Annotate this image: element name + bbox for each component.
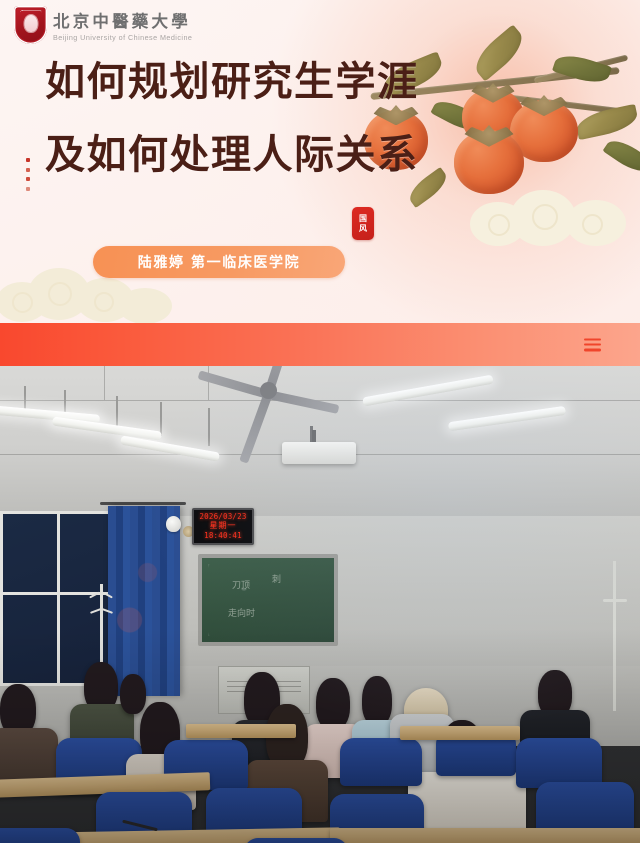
led-clock-sign: 2026/03/23 星期一 18:40:41 bbox=[192, 508, 254, 545]
green-chalkboard bbox=[198, 554, 338, 646]
speaker-badge: 陆雅婷 第一临床医学院 bbox=[93, 246, 345, 278]
chalk-writing: 刀顶 bbox=[232, 578, 250, 591]
red-seal-stamp: 国 风 bbox=[352, 207, 374, 240]
desk bbox=[400, 726, 520, 740]
audience-head bbox=[316, 678, 350, 730]
hamburger-menu-icon[interactable] bbox=[584, 338, 601, 351]
ceiling-fan-icon bbox=[195, 368, 340, 412]
orange-toolbar bbox=[0, 323, 640, 366]
university-name-en: Beijing University of Chinese Medicine bbox=[53, 33, 192, 42]
ceiling-projector bbox=[282, 442, 356, 464]
desk bbox=[186, 724, 296, 738]
classroom-photo: 2026/03/23 星期一 18:40:41 刀顶 刺 走向时 一、寻找导师并… bbox=[0, 366, 640, 843]
audience-head bbox=[120, 674, 146, 714]
seal-char-2: 风 bbox=[359, 224, 367, 233]
title-line-2: 及如何处理人际关系 bbox=[0, 135, 640, 175]
chalk-writing: 走向时 bbox=[228, 606, 255, 619]
poster-title: 如何规划研究生学涯 及如何处理人际关系 bbox=[0, 62, 640, 175]
chair bbox=[516, 738, 602, 788]
chair bbox=[244, 838, 348, 843]
red-dot-accent bbox=[26, 158, 30, 191]
desk bbox=[330, 828, 640, 843]
university-name-cn: 北京中醫藥大學 bbox=[53, 8, 192, 32]
audience-head bbox=[362, 676, 392, 726]
security-camera bbox=[166, 516, 181, 532]
chair bbox=[0, 828, 80, 843]
poster-banner: 北京中醫藥大學 Beijing University of Chinese Me… bbox=[0, 0, 640, 323]
audience-area bbox=[0, 642, 640, 843]
university-crest-icon bbox=[14, 6, 47, 44]
seal-char-1: 国 bbox=[359, 214, 367, 223]
led-time: 18:40:41 bbox=[204, 532, 242, 541]
university-brand: 北京中醫藥大學 Beijing University of Chinese Me… bbox=[14, 6, 192, 44]
chair bbox=[340, 738, 422, 786]
led-date: 2026/03/23 bbox=[199, 513, 246, 522]
title-line-1: 如何规划研究生学涯 bbox=[0, 62, 640, 102]
chalk-writing: 刺 bbox=[272, 572, 281, 585]
led-weekday: 星期一 bbox=[210, 522, 237, 531]
curtain-rod bbox=[100, 502, 186, 505]
